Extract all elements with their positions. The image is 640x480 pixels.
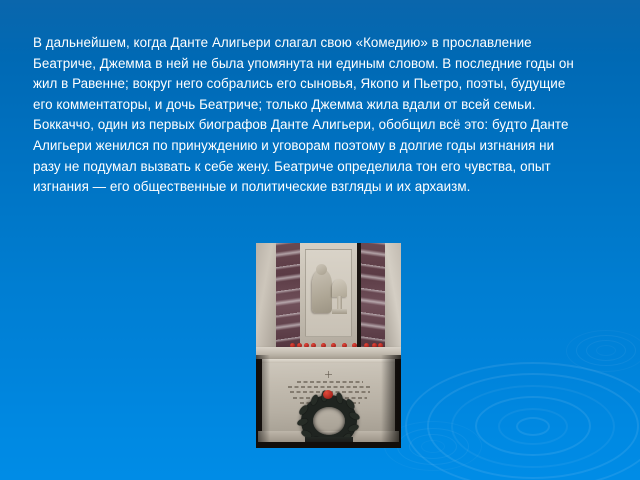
dante-relief-figure <box>312 269 332 313</box>
photo-shadow-left <box>256 355 270 448</box>
presentation-slide: В дальнейшем, когда Данте Алигьери слага… <box>0 0 640 480</box>
wreath-rose <box>323 390 333 399</box>
photo-content <box>256 243 401 448</box>
inscription-line <box>297 381 363 383</box>
ripple-ring <box>586 340 626 361</box>
niche-wall-left <box>256 243 278 347</box>
ripple-ring <box>421 440 445 453</box>
ripple-ring <box>566 330 640 372</box>
marble-pilaster-left <box>276 243 302 347</box>
bas-relief-panel <box>300 243 357 347</box>
niche-wall-right <box>385 243 401 347</box>
ripple-ring <box>516 417 550 436</box>
relief-lectern-stem <box>337 296 342 310</box>
ripple-ring <box>405 362 640 480</box>
ripple-ring <box>397 428 469 465</box>
ripple-ring <box>409 434 457 459</box>
inscription-line <box>288 386 373 388</box>
ripple-ring <box>451 385 615 468</box>
cornice-ledge <box>256 347 401 359</box>
ripple-ring <box>596 345 616 356</box>
marble-pilaster-right <box>361 243 387 347</box>
photo-shadow-right <box>381 355 401 448</box>
ripple-ring <box>427 373 639 479</box>
slide-body-text: В дальнейшем, когда Данте Алигьери слага… <box>33 33 578 198</box>
dante-relief-head <box>316 264 327 275</box>
laurel-wreath <box>301 395 357 447</box>
ripple-ring <box>576 335 636 366</box>
floor-dark-band <box>256 442 401 448</box>
sarcophagus-top-edge <box>262 359 395 363</box>
dante-tomb-photo <box>256 243 401 448</box>
relief-lectern-base <box>332 309 347 314</box>
relief-lectern <box>332 279 347 297</box>
cross-mark <box>325 371 332 378</box>
ripple-ring <box>498 408 568 445</box>
ripple-ring <box>475 396 591 456</box>
